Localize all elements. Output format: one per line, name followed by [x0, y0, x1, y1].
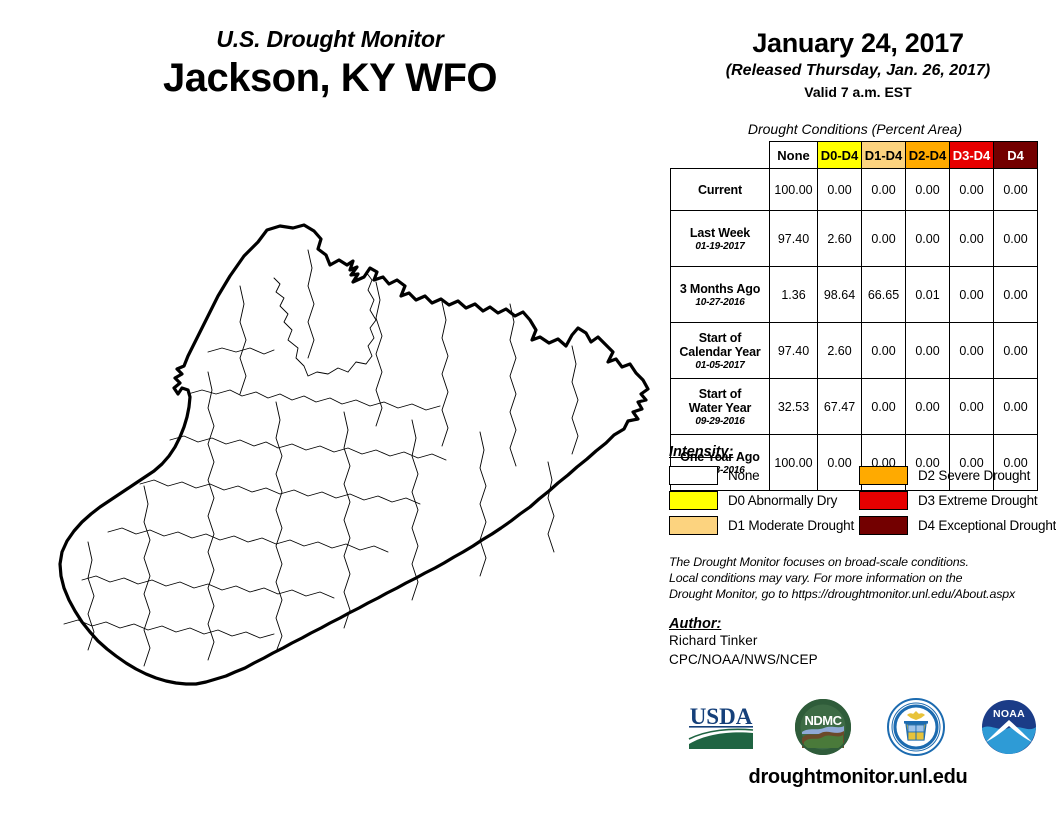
- map-svg: [12, 222, 652, 712]
- value-cell: 32.53: [770, 379, 818, 435]
- disclaimer-line-1: The Drought Monitor focuses on broad-sca…: [669, 554, 1054, 570]
- author-block: Author: Richard Tinker CPC/NOAA/NWS/NCEP: [669, 616, 1054, 669]
- legend-label: D0 Abnormally Dry: [728, 493, 837, 508]
- value-cell: 0.00: [950, 379, 994, 435]
- noaa-logo: NOAA: [980, 698, 1038, 761]
- value-cell: 0.01: [906, 267, 950, 323]
- value-cell: 0.00: [906, 323, 950, 379]
- column-header-d0d4: D0-D4: [818, 142, 862, 169]
- legend-label: D2 Severe Drought: [918, 468, 1030, 483]
- legend-swatch: [669, 491, 718, 510]
- author-name: Richard Tinker: [669, 632, 1054, 651]
- row-label-cell: Start ofCalendar Year01-05-2017: [671, 323, 770, 379]
- value-cell: 0.00: [906, 211, 950, 267]
- row-label-date: 10-27-2016: [673, 297, 767, 308]
- legend-swatch: [669, 516, 718, 535]
- legend-item: D3 Extreme Drought: [859, 491, 1056, 510]
- legend-swatch: [859, 466, 908, 485]
- table-header-row: None D0-D4 D1-D4 D2-D4 D3-D4 D4: [671, 142, 1038, 169]
- value-cell: 0.00: [862, 323, 906, 379]
- legend-swatch: [669, 466, 718, 485]
- release-date: (Released Thursday, Jan. 26, 2017): [660, 62, 1056, 80]
- svg-text:NDMC: NDMC: [804, 713, 842, 728]
- value-cell: 0.00: [994, 323, 1038, 379]
- legend-item: D1 Moderate Drought: [669, 516, 859, 535]
- svg-text:NOAA: NOAA: [993, 708, 1025, 720]
- intensity-legend-title: Intensity:: [669, 444, 1056, 460]
- drought-map[interactable]: [12, 222, 652, 712]
- disclaimer-line-2: Local conditions may vary. For more info…: [669, 570, 1054, 586]
- legend-item: D0 Abnormally Dry: [669, 491, 859, 510]
- map-panel: U.S. Drought Monitor Jackson, KY WFO: [0, 0, 660, 816]
- value-cell: 0.00: [994, 211, 1038, 267]
- row-label-date: 09-29-2016: [673, 416, 767, 427]
- legend-grid: NoneD2 Severe DroughtD0 Abnormally DryD3…: [669, 466, 1056, 535]
- report-date: January 24, 2017: [660, 28, 1056, 59]
- row-label-cell: Last Week01-19-2017: [671, 211, 770, 267]
- legend-label: D3 Extreme Drought: [918, 493, 1037, 508]
- legend-label: None: [728, 468, 759, 483]
- legend-label: D1 Moderate Drought: [728, 518, 854, 533]
- row-label-name: 3 Months Ago: [673, 282, 767, 296]
- date-block: January 24, 2017 (Released Thursday, Jan…: [660, 28, 1056, 100]
- valid-time: Valid 7 a.m. EST: [660, 84, 1056, 100]
- info-panel: January 24, 2017 (Released Thursday, Jan…: [660, 0, 1056, 816]
- logo-row: USDA NDMC: [665, 693, 1056, 765]
- value-cell: 1.36: [770, 267, 818, 323]
- value-cell: 2.60: [818, 211, 862, 267]
- disclaimer-text: The Drought Monitor focuses on broad-sca…: [669, 554, 1054, 602]
- value-cell: 0.00: [950, 211, 994, 267]
- value-cell: 0.00: [994, 169, 1038, 211]
- value-cell: 0.00: [994, 267, 1038, 323]
- value-cell: 67.47: [818, 379, 862, 435]
- svg-text:USDA: USDA: [689, 704, 752, 729]
- value-cell: 0.00: [862, 169, 906, 211]
- page-title: Jackson, KY WFO: [0, 57, 660, 99]
- commerce-seal-logo: [887, 698, 945, 761]
- column-header-d2d4: D2-D4: [906, 142, 950, 169]
- value-cell: 97.40: [770, 323, 818, 379]
- row-label-date: 01-19-2017: [673, 241, 767, 252]
- row-label-name: Start ofWater Year: [673, 387, 767, 415]
- row-label-cell: 3 Months Ago10-27-2016: [671, 267, 770, 323]
- value-cell: 100.00: [770, 169, 818, 211]
- value-cell: 0.00: [950, 169, 994, 211]
- row-label-date: 01-05-2017: [673, 360, 767, 371]
- value-cell: 98.64: [818, 267, 862, 323]
- table-corner-cell: [671, 142, 770, 169]
- row-label-cell: Start ofWater Year09-29-2016: [671, 379, 770, 435]
- table-row: 3 Months Ago10-27-20161.3698.6466.650.01…: [671, 267, 1038, 323]
- value-cell: 2.60: [818, 323, 862, 379]
- row-label-name: Last Week: [673, 226, 767, 240]
- column-header-d3d4: D3-D4: [950, 142, 994, 169]
- value-cell: 0.00: [994, 379, 1038, 435]
- table-row: Start ofCalendar Year01-05-201797.402.60…: [671, 323, 1038, 379]
- column-header-none: None: [770, 142, 818, 169]
- value-cell: 0.00: [862, 211, 906, 267]
- value-cell: 0.00: [862, 379, 906, 435]
- value-cell: 66.65: [862, 267, 906, 323]
- legend-swatch: [859, 516, 908, 535]
- legend-label: D4 Exceptional Drought: [918, 518, 1056, 533]
- title-block: U.S. Drought Monitor Jackson, KY WFO: [0, 26, 660, 99]
- column-header-d4: D4: [994, 142, 1038, 169]
- drought-conditions-table: None D0-D4 D1-D4 D2-D4 D3-D4 D4 Current1…: [670, 141, 1038, 491]
- value-cell: 0.00: [906, 169, 950, 211]
- legend-item: None: [669, 466, 859, 485]
- intensity-legend: Intensity: NoneD2 Severe DroughtD0 Abnor…: [669, 444, 1056, 535]
- value-cell: 0.00: [950, 267, 994, 323]
- ndmc-logo: NDMC: [794, 698, 852, 761]
- legend-swatch: [859, 491, 908, 510]
- value-cell: 0.00: [906, 379, 950, 435]
- table-caption: Drought Conditions (Percent Area): [660, 121, 1050, 137]
- value-cell: 0.00: [950, 323, 994, 379]
- column-header-d1d4: D1-D4: [862, 142, 906, 169]
- row-label-name: Current: [673, 183, 767, 197]
- legend-item: D2 Severe Drought: [859, 466, 1056, 485]
- value-cell: 97.40: [770, 211, 818, 267]
- row-label-name: Start ofCalendar Year: [673, 331, 767, 359]
- table-row: Last Week01-19-201797.402.600.000.000.00…: [671, 211, 1038, 267]
- value-cell: 0.00: [818, 169, 862, 211]
- usda-logo: USDA: [683, 700, 759, 759]
- disclaimer-line-3: Drought Monitor, go to https://droughtmo…: [669, 586, 1054, 602]
- author-affiliation: CPC/NOAA/NWS/NCEP: [669, 651, 1054, 670]
- table-row: Current100.000.000.000.000.000.00: [671, 169, 1038, 211]
- table-row: Start ofWater Year09-29-201632.5367.470.…: [671, 379, 1038, 435]
- drought-monitor-supertitle: U.S. Drought Monitor: [0, 26, 660, 53]
- site-url[interactable]: droughtmonitor.unl.edu: [660, 766, 1056, 789]
- row-label-cell: Current: [671, 169, 770, 211]
- author-label: Author:: [669, 616, 1054, 632]
- legend-item: D4 Exceptional Drought: [859, 516, 1056, 535]
